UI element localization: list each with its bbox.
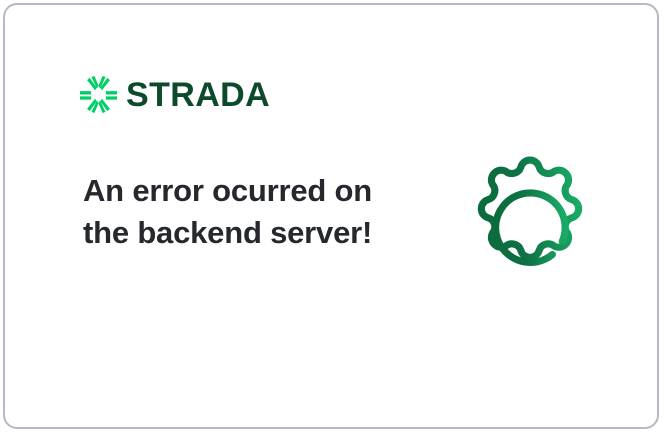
brand-wordmark: STRADA [126,78,270,112]
error-message-text: An error ocurred on the backend server! [83,170,383,254]
strada-asterisk-icon [80,76,117,113]
brand-lockup: STRADA [80,76,270,113]
gear-cog-icon [451,149,609,307]
error-card: STRADA An error ocurred on the backend s… [3,3,659,429]
